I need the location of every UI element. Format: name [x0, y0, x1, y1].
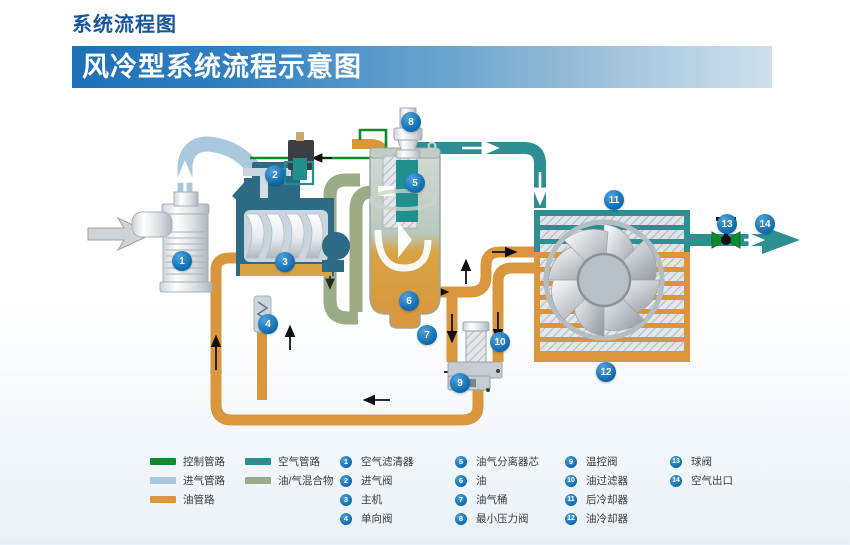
callout-thermostatic-valve: 9: [450, 373, 470, 393]
legend-item-number: 11: [565, 494, 577, 506]
callout-air-outlet: 14: [755, 214, 775, 234]
callout-main-unit: 3: [275, 252, 295, 272]
legend-item-label: 温控阀: [586, 454, 618, 469]
legend-lines-col-a: 控制管路 进气管路 油管路: [150, 452, 225, 509]
legend-item-number: 1: [340, 456, 352, 468]
page-subtitle: 系统流程图: [72, 8, 177, 37]
swatch-oil-gas-mix: [245, 477, 271, 484]
callout-oil-cooler: 12: [596, 362, 616, 382]
swatch-intake-line: [150, 477, 176, 484]
title-bar: 风冷型系统流程示意图: [72, 46, 772, 88]
legend-line-item: 控制管路: [150, 452, 225, 471]
callout-oil-gas-tank: 7: [417, 325, 437, 345]
legend-item: 12油冷却器: [565, 509, 628, 528]
legend-item-label: 油: [476, 473, 487, 488]
legend-line-item: 油/气混合物: [245, 471, 333, 490]
legend-item-label: 单向阀: [361, 511, 393, 526]
legend-item-label: 油过滤器: [586, 473, 628, 488]
legend-item: 2进气阀: [340, 471, 414, 490]
legend-items-col-2: 5油气分离器芯6油7油气桶8最小压力阀: [455, 452, 539, 528]
legend-item-label: 后冷却器: [586, 492, 628, 507]
legend-item-label: 球阀: [691, 454, 712, 469]
legend-lines-col-b: 空气管路 油/气混合物: [245, 452, 333, 490]
legend-item-label: 油冷却器: [586, 511, 628, 526]
callout-separator-element: 5: [405, 173, 425, 193]
legend-item-label: 空气出口: [691, 473, 733, 488]
legend-label: 油管路: [183, 492, 215, 507]
legend-item-label: 最小压力阀: [476, 511, 529, 526]
legend-item-number: 7: [455, 494, 467, 506]
cooling-fan: [546, 222, 662, 338]
callout-after-cooler: 11: [604, 190, 624, 210]
legend-line-item: 进气管路: [150, 471, 225, 490]
legend-label: 控制管路: [183, 454, 225, 469]
diagram-canvas: [0, 100, 850, 450]
legend-item-number: 8: [455, 513, 467, 525]
legend-item-number: 14: [670, 475, 682, 487]
legend-items-col-1: 1空气滤清器2进气阀3主机4单向阀: [340, 452, 414, 528]
legend-item-number: 10: [565, 475, 577, 487]
legend-item: 9温控阀: [565, 452, 628, 471]
legend-item: 13球阀: [670, 452, 733, 471]
legend-item-label: 油气分离器芯: [476, 454, 539, 469]
legend-line-item: 空气管路: [245, 452, 333, 471]
legend-item: 8最小压力阀: [455, 509, 539, 528]
callout-oil-filter: 10: [490, 332, 510, 352]
legend-item: 3主机: [340, 490, 414, 509]
legend-items-col-4: 13球阀14空气出口: [670, 452, 733, 490]
legend-item: 5油气分离器芯: [455, 452, 539, 471]
legend-item: 4单向阀: [340, 509, 414, 528]
callout-check-valve: 4: [258, 314, 278, 334]
legend-label: 油/气混合物: [278, 473, 333, 488]
flow-diagram-page: 系统流程图 风冷型系统流程示意图: [0, 0, 850, 545]
legend-item-number: 13: [670, 456, 682, 468]
swatch-air-line: [245, 458, 271, 465]
legend-label: 空气管路: [278, 454, 320, 469]
swatch-oil-line: [150, 496, 176, 503]
legend-items-col-3: 9温控阀10油过滤器11后冷却器12油冷却器: [565, 452, 628, 528]
legend-item: 7油气桶: [455, 490, 539, 509]
legend-item-number: 5: [455, 456, 467, 468]
legend-item: 14空气出口: [670, 471, 733, 490]
callout-intake-valve: 2: [265, 165, 285, 185]
swatch-control-line: [150, 458, 176, 465]
legend-item: 10油过滤器: [565, 471, 628, 490]
legend-item-number: 4: [340, 513, 352, 525]
legend-item-label: 油气桶: [476, 492, 508, 507]
callout-min-pressure-valve: 8: [401, 112, 421, 132]
callout-air-filter: 1: [172, 251, 192, 271]
legend-item-number: 3: [340, 494, 352, 506]
air-filter-unit: [132, 192, 212, 292]
callout-oil: 6: [399, 291, 419, 311]
legend-item-label: 进气阀: [361, 473, 393, 488]
legend: 控制管路 进气管路 油管路 空气管路 油/气混合物 1空气滤清器2进气阀3主机4…: [0, 452, 850, 540]
legend-item: 11后冷却器: [565, 490, 628, 509]
callout-ball-valve: 13: [717, 214, 737, 234]
legend-item-label: 空气滤清器: [361, 454, 414, 469]
legend-line-item: 油管路: [150, 490, 225, 509]
legend-item-number: 9: [565, 456, 577, 468]
legend-item-number: 2: [340, 475, 352, 487]
legend-item: 1空气滤清器: [340, 452, 414, 471]
legend-item: 6油: [455, 471, 539, 490]
legend-label: 进气管路: [183, 473, 225, 488]
page-title: 风冷型系统流程示意图: [82, 51, 362, 83]
legend-item-label: 主机: [361, 492, 382, 507]
legend-item-number: 6: [455, 475, 467, 487]
legend-item-number: 12: [565, 513, 577, 525]
air-outlet-pipe: [690, 226, 800, 254]
